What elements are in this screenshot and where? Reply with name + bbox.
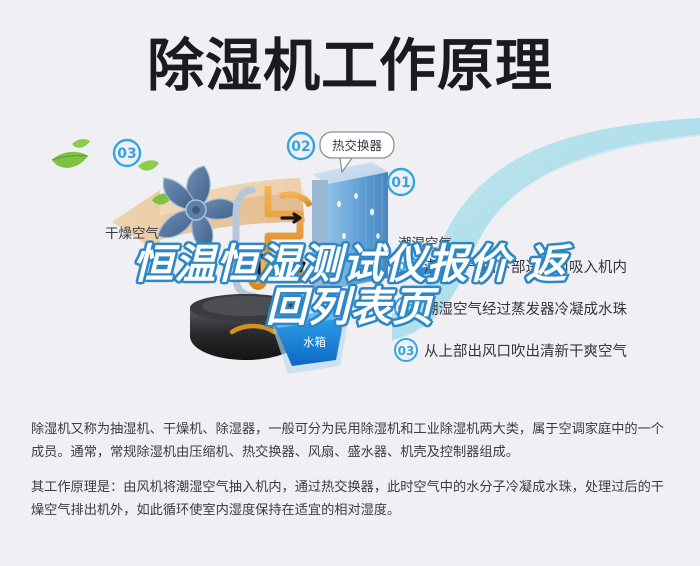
page-title-part2: 工作原理 (321, 33, 553, 99)
evaporator-unit (312, 162, 388, 290)
legend-item-03: 03 从上部出风口吹出清新干爽空气 (395, 339, 627, 361)
page-title-part1: 除湿机 (147, 33, 321, 99)
callout-label-dry-air: 干燥空气 (105, 226, 159, 242)
leaf-icon (72, 139, 90, 148)
page-root: 除湿机工作原理 (0, 0, 700, 566)
callout-label-heat-exchanger: 热交换器 (332, 138, 383, 153)
legend-number-02: 02 (398, 302, 415, 316)
water-tank-label: 水箱 (303, 335, 326, 349)
callout-number-03: 03 (117, 146, 136, 162)
dehumidifier-diagram: 水箱 03 干燥空气 02 热交换器 01 潮湿空气 (0, 118, 700, 400)
legend-list: 01 潮湿空气由下部进风口吸入机内 02 潮湿空气经过蒸发器冷凝成水珠 03 从… (395, 255, 627, 361)
callout-number-01: 01 (391, 175, 410, 191)
legend-number-03: 03 (398, 344, 415, 358)
callout-dry-air: 03 干燥空气 (105, 140, 159, 242)
callout-number-02: 02 (291, 139, 310, 155)
legend-text-01: 潮湿空气由下部进风口吸入机内 (424, 259, 627, 276)
description-paragraph-1: 除湿机又称为抽湿机、干燥机、除湿器，一般可分为民用除湿机和工业除湿机两大类，属于… (31, 418, 671, 464)
description-block: 除湿机又称为抽湿机、干燥机、除湿器，一般可分为民用除湿机和工业除湿机两大类，属于… (31, 418, 671, 522)
description-paragraph-2: 其工作原理是：由风机将潮湿空气抽入机内，通过热交换器，此时空气中的水分子冷凝成水… (31, 476, 671, 522)
legend-number-01: 01 (398, 260, 415, 274)
page-title: 除湿机工作原理 (0, 33, 700, 99)
legend-text-03: 从上部出风口吹出清新干爽空气 (424, 343, 627, 360)
callout-label-humid-air: 潮湿空气 (398, 236, 452, 252)
legend-item-01: 01 潮湿空气由下部进风口吸入机内 (395, 255, 627, 277)
legend-text-02: 潮湿空气经过蒸发器冷凝成水珠 (424, 301, 627, 318)
leaf-icon (138, 160, 159, 170)
callout-humid-air: 01 潮湿空气 (388, 169, 452, 252)
leaf-icon (52, 152, 88, 168)
